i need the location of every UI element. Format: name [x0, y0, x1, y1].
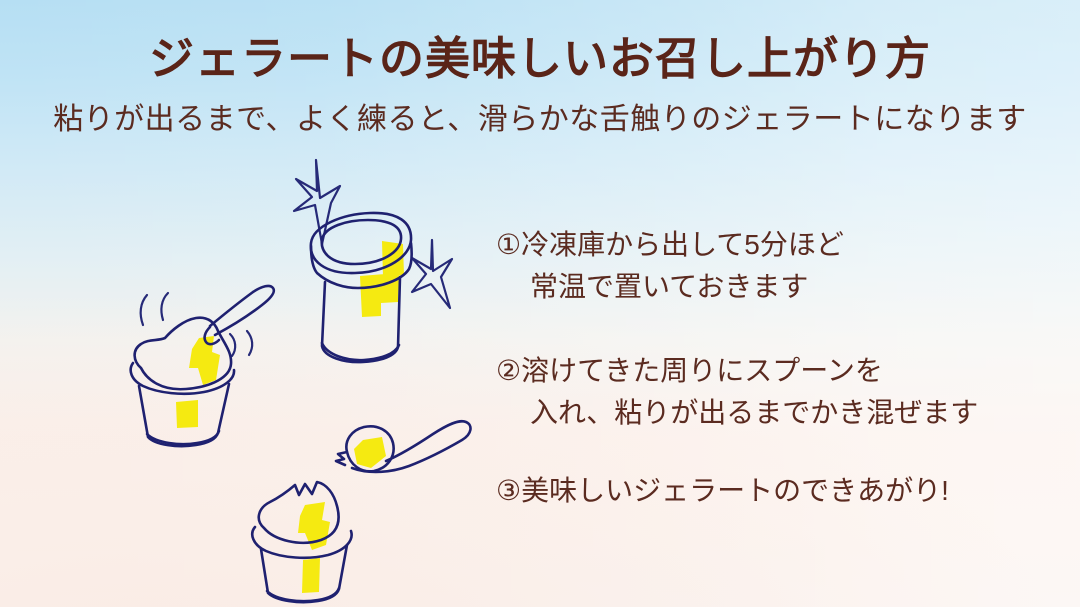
instruction-step-3: ③美味しいジェラートのできあがり! [496, 470, 1056, 512]
page-title: ジェラートの美味しいお召し上がり方 [0, 22, 1080, 87]
step-1-line-1: ①冷凍庫から出して5分ほど [496, 224, 1056, 266]
poster-canvas: ジェラートの美味しいお召し上がり方 粘りが出るまで、よく練ると、滑らかな舌触りの… [0, 0, 1080, 607]
step-2-line-2: 入れ、粘りが出るまでかき混ぜます [496, 392, 1056, 434]
instruction-list: ①冷凍庫から出して5分ほど 常温で置いておきます ②溶けてきた周りにスプーンを … [496, 224, 1056, 512]
step-3-line-1: ③美味しいジェラートのできあがり! [496, 470, 1056, 512]
step-2-line-1: ②溶けてきた周りにスプーンを [496, 350, 1056, 392]
page-subtitle: 粘りが出るまで、よく練ると、滑らかな舌触りのジェラートになります [0, 94, 1080, 138]
step-1-line-2: 常温で置いておきます [496, 266, 1056, 308]
instruction-step-1: ①冷凍庫から出して5分ほど 常温で置いておきます [496, 224, 1056, 308]
instruction-step-2: ②溶けてきた周りにスプーンを 入れ、粘りが出るまでかき混ぜます [496, 350, 1056, 434]
